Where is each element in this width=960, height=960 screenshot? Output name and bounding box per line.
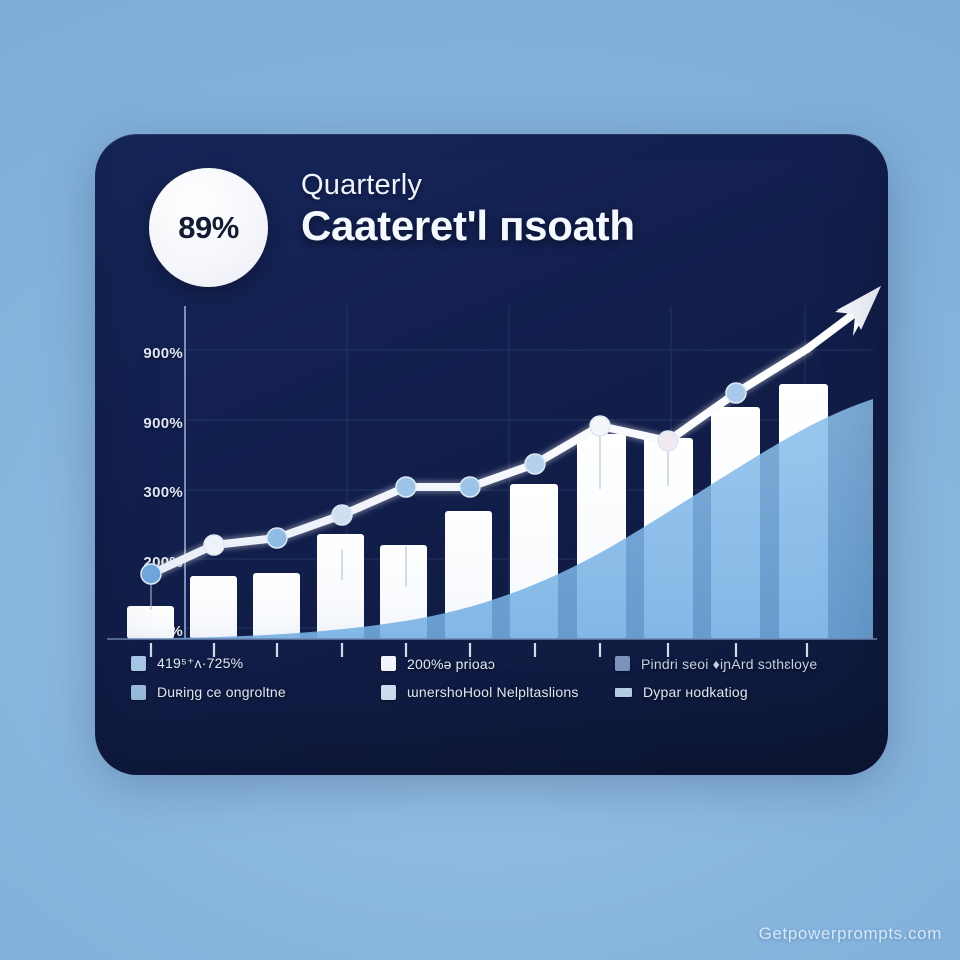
- data-point-8: [590, 416, 610, 436]
- data-point-2: [204, 535, 224, 555]
- legend-swatch-icon: [615, 688, 632, 697]
- legend-swatch-icon: [615, 656, 630, 671]
- legend-item-0[interactable]: 419⁵⁺ᴧ·725%: [131, 655, 381, 672]
- data-point-1: [141, 564, 161, 584]
- legend-label-2: 200%ǝ prioaɔ: [407, 656, 495, 672]
- data-point-4: [332, 505, 352, 525]
- legend-item-4[interactable]: Pindri seoi ♦iɲArd sɔthɛloye: [615, 655, 861, 672]
- legend-row-1: 419⁵⁺ᴧ·725% 200%ǝ prioaɔ Pindri seoi ♦iɲ…: [131, 655, 861, 684]
- legend-swatch-icon: [131, 685, 146, 700]
- chart-card: 89% Quarterly Caateret'l ᴨsoath 900% 900…: [95, 134, 888, 775]
- legend-label-3: ɯnershoHool Nelpltaslions: [407, 684, 579, 700]
- data-point-3: [267, 528, 287, 548]
- legend-label-0: 419⁵⁺ᴧ·725%: [157, 655, 243, 672]
- data-point-7: [525, 454, 545, 474]
- bar-3: [253, 573, 300, 639]
- legend-item-2[interactable]: 200%ǝ prioaɔ: [381, 655, 615, 672]
- data-point-6: [460, 477, 480, 497]
- legend-item-3[interactable]: ɯnershoHool Nelpltaslions: [381, 684, 615, 700]
- legend-label-5: Dypar ʜodkatiog: [643, 684, 748, 700]
- legend-item-1[interactable]: Duʀiŋg ce ongroltne: [131, 684, 381, 700]
- data-point-5: [396, 477, 416, 497]
- legend-swatch-icon: [381, 656, 396, 671]
- infographic-canvas: 89% Quarterly Caateret'l ᴨsoath 900% 900…: [0, 0, 960, 960]
- legend-label-4: Pindri seoi ♦iɲArd sɔthɛloye: [641, 656, 817, 672]
- watermark: Getpowerprompts.com: [759, 924, 942, 944]
- chart-legend: 419⁵⁺ᴧ·725% 200%ǝ prioaɔ Pindri seoi ♦iɲ…: [131, 655, 861, 712]
- legend-swatch-icon: [131, 656, 146, 671]
- legend-row-2: Duʀiŋg ce ongroltne ɯnershoHool Nelpltas…: [131, 684, 861, 712]
- growth-arrow-icon: [807, 286, 881, 349]
- data-point-10: [726, 383, 746, 403]
- legend-label-1: Duʀiŋg ce ongroltne: [157, 684, 286, 700]
- bar-2: [190, 576, 237, 639]
- legend-swatch-icon: [381, 685, 396, 700]
- bar-1: [127, 606, 174, 639]
- legend-item-5[interactable]: Dypar ʜodkatiog: [615, 684, 861, 700]
- bar-4: [317, 534, 364, 639]
- data-point-9: [658, 431, 678, 451]
